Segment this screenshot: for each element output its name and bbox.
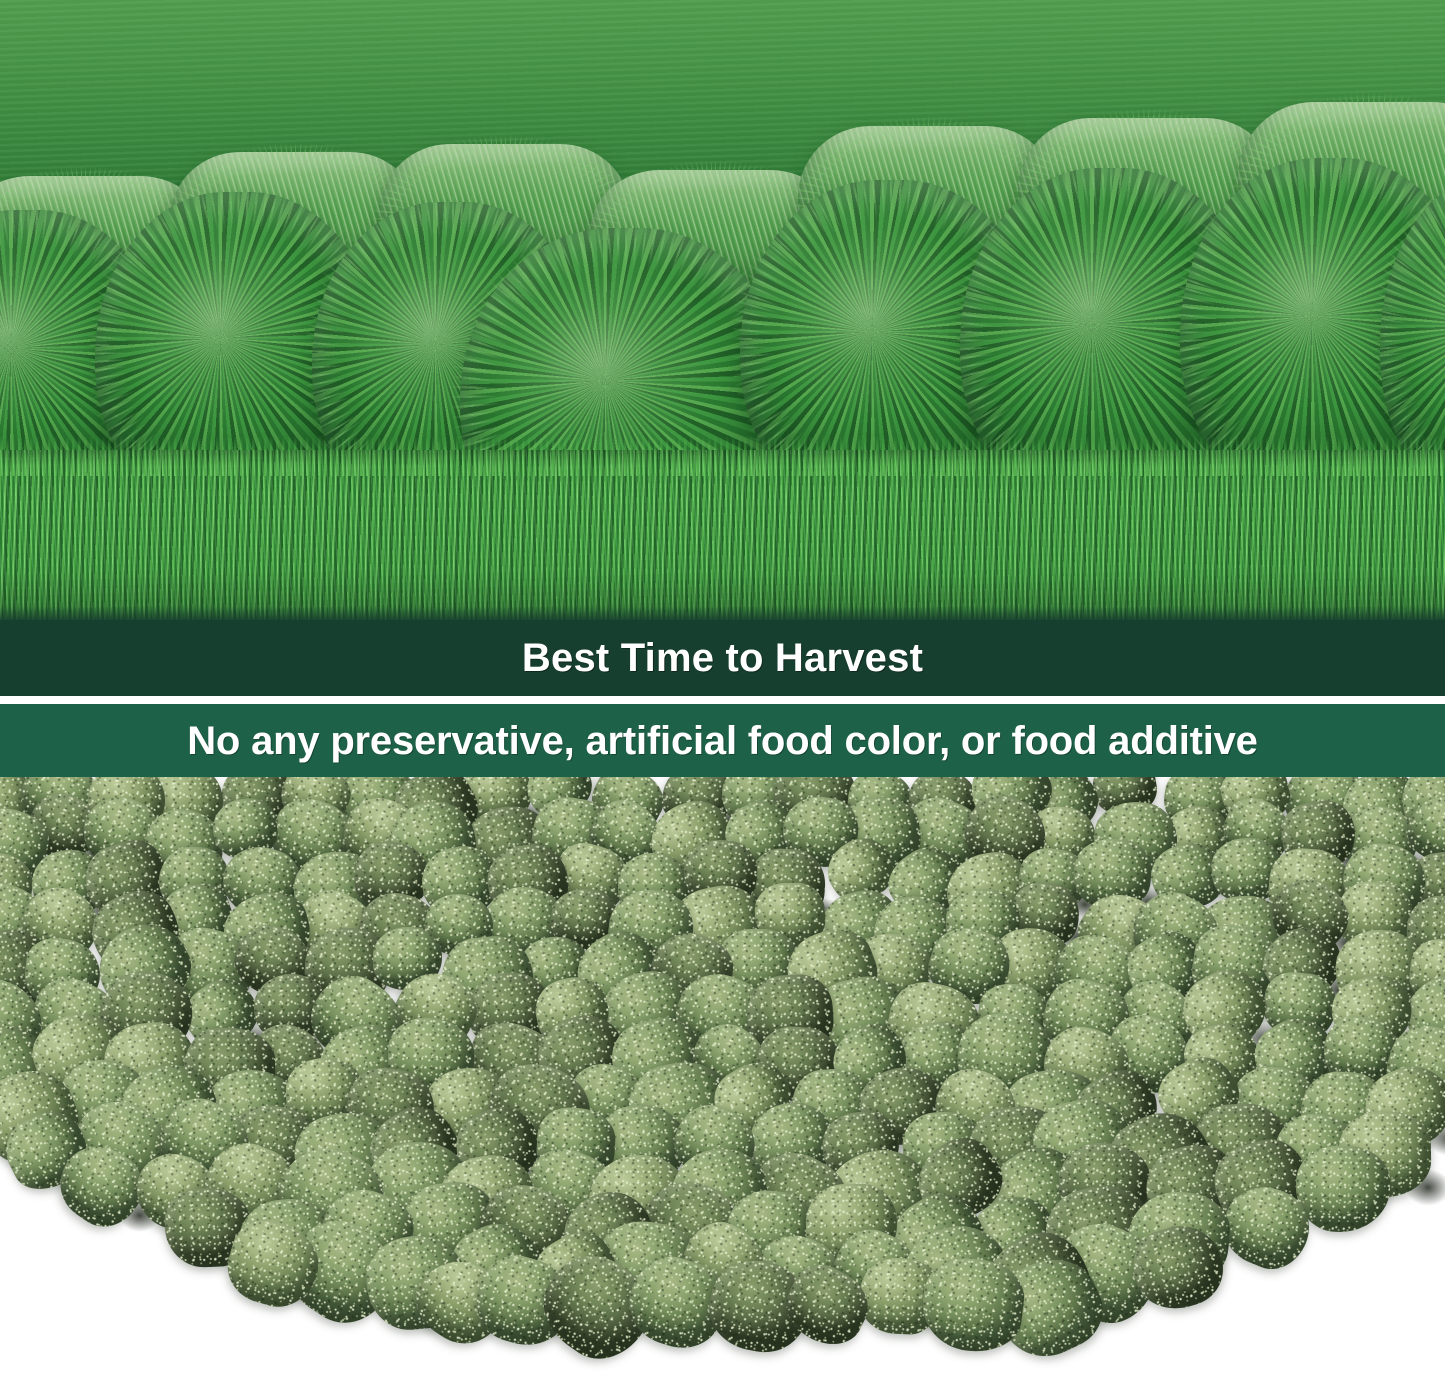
mown-grass-foreground bbox=[0, 450, 1445, 622]
bale-row-foreground bbox=[0, 150, 1445, 480]
hay-bales-field-photo bbox=[0, 0, 1445, 622]
green-hay-pellets-photo bbox=[0, 777, 1445, 1381]
banner-no-preservative: No any preservative, artificial food col… bbox=[0, 704, 1445, 778]
product-infographic: Best Time to Harvest No any preservative… bbox=[0, 0, 1445, 1381]
banner-primary-text: Best Time to Harvest bbox=[522, 638, 923, 678]
banner-best-time-to-harvest: Best Time to Harvest bbox=[0, 620, 1445, 696]
banner-secondary-text: No any preservative, artificial food col… bbox=[163, 721, 1281, 761]
banner-separator bbox=[0, 696, 1445, 704]
